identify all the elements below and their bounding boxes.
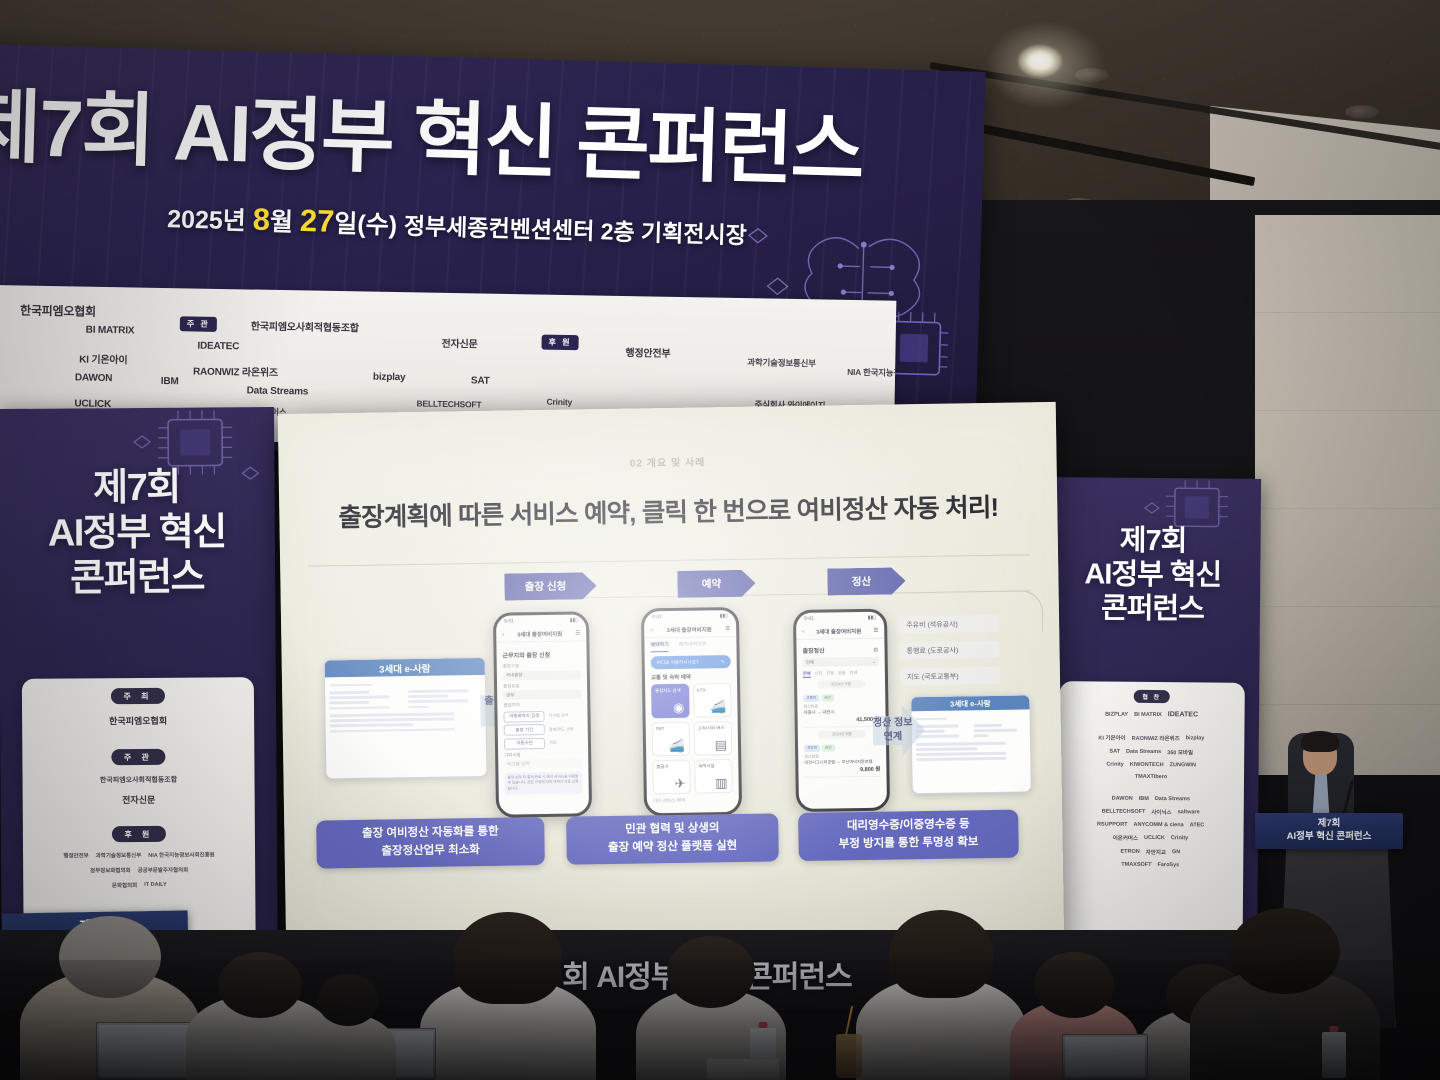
doc-line xyxy=(329,706,389,709)
right-standing-banner: 제7회 AI정부 혁신 콘퍼런스 협 찬 BIZPLAY BI MATRIX I… xyxy=(1042,477,1261,969)
settlement-chip-type: 숙박비 xyxy=(804,745,820,752)
sponsor-logo: bizplay xyxy=(373,372,406,384)
phone1-period-button[interactable]: 출장 기간 xyxy=(504,724,545,736)
esaram-system-left: 3세대 e-사람 xyxy=(324,657,488,780)
conference-photo-scene: 제7회 AI정부 혁신 콘퍼런스 2025년 8월 27일(수) 정부세종컨벤션… xyxy=(0,0,1440,1080)
circuit-chip-icon xyxy=(120,407,271,512)
right-tier3-logo: BELLTECHSOFT xyxy=(1102,809,1146,815)
right-tier2-logo: Data Streams xyxy=(1126,749,1161,755)
banner-date-day: 27 xyxy=(299,203,334,239)
phone1-app-title: 3세대 출장여비지원 xyxy=(508,630,571,639)
sponsor-logo: KI 기온아이 xyxy=(79,351,127,367)
banner-date-day-suffix: 일(수) xyxy=(334,210,404,240)
left-host-logo: 한국피엠오협회 xyxy=(109,714,167,727)
right-tier3-logo: 이온커머스 xyxy=(1113,834,1138,842)
phone2-time: 9:41 xyxy=(652,614,662,620)
bus-ticket-icon: ▤ xyxy=(715,738,727,751)
phone3-filter-value: 전체 xyxy=(806,659,814,665)
left-tag-organizer: 주 관 xyxy=(111,749,166,765)
wall-panel-seams xyxy=(1255,215,1440,775)
doc-line xyxy=(973,734,988,737)
settlement-chip-status: 승인 xyxy=(822,744,835,751)
train-icon: 🚄 xyxy=(669,739,685,752)
phone1-remarks-input[interactable]: 비고를 입력 xyxy=(504,758,582,768)
doc-line xyxy=(408,700,468,703)
hamburger-menu-icon[interactable]: ☰ xyxy=(575,630,580,636)
right-tier3-logo: ATEC xyxy=(1190,822,1205,828)
map-pin-icon: ◉ xyxy=(673,701,685,714)
search-icon[interactable]: ⌕ xyxy=(650,627,653,634)
phone1-form-title: 근무지외 출장 신청 xyxy=(503,649,581,659)
sponsor-logo: 과학기술정보통신부 xyxy=(747,356,816,369)
left-organizer-logo: 전자신문 xyxy=(122,793,155,806)
phone3-navbar: ‹ 3세대 출장여비지원 ☰ xyxy=(796,624,884,640)
settlement-amount: 9,800 원 xyxy=(804,765,880,774)
sponsor-logo: SAT xyxy=(471,375,490,386)
back-chevron-icon[interactable]: ‹ xyxy=(802,629,804,635)
left-supporter-logo: 문화협의회 xyxy=(112,881,137,889)
right-wall-panel xyxy=(1255,215,1440,775)
left-organizer-logo: 한국피엠오사회적협동조합 xyxy=(100,775,177,786)
left-tag-host: 주 최 xyxy=(110,688,165,704)
phone1-destination-button[interactable]: 여행목적지 검색 xyxy=(503,710,544,722)
right-tier2-logo: SAT xyxy=(1109,749,1120,755)
left-supporter-logo: NIA 한국지능정보사회진흥원 xyxy=(148,850,215,858)
phone1-label: 출장유형 xyxy=(503,682,581,689)
link-arrow-right-label: 정산 정보 연계 xyxy=(855,716,931,744)
booking-card-label: 항공기 xyxy=(656,764,668,769)
booking-card-flight[interactable]: 항공기 ✈ xyxy=(652,760,691,795)
partner-chip-map: 지도 (국토교통부) xyxy=(900,667,1000,686)
podium-sign-line2: AI정부 혁신 콘퍼런스 xyxy=(1287,831,1372,844)
settlement-row[interactable]: 숙박비 승인 정산완료 대전시그니처호텔 → 부산여비지원호텔 9,800 원 xyxy=(804,741,881,778)
left-supporter-logo: 행정안전부 xyxy=(63,851,88,859)
doc-line xyxy=(329,696,389,699)
phone-mockup-settlement[interactable]: 9:41 ▮▮▯ ‹ 3세대 출장여비지원 ☰ 출장정산 ⚙ 전체 ⌄ 전체 xyxy=(793,609,890,812)
ceiling-downlight-icon xyxy=(1345,105,1379,119)
phone2-navbar: ⌕ 3세대 출장여비지원 ☰ xyxy=(644,622,736,638)
phone3-body: 출장정산 ⚙ 전체 ⌄ 전체 신청 진행 완료 반려 2024년 9월 xyxy=(796,639,886,783)
booking-card-bus[interactable]: 고속/시외 버스 ▤ xyxy=(694,721,733,756)
doc-line xyxy=(408,689,468,692)
settlement-chips: 숙박비 승인 xyxy=(804,744,880,752)
right-tier3-logo: GN xyxy=(1172,849,1180,855)
right-tier2-logo: Crinity xyxy=(1106,762,1123,768)
sponsor-logo: 한국피엠오협회 xyxy=(20,301,96,319)
sponsor-logo: DAWON xyxy=(75,372,113,384)
right-tier2-logo: KIWONTECH xyxy=(1130,762,1164,768)
sponsor-logo: 행정안전부 xyxy=(625,344,670,360)
phone3-time: 9:41 xyxy=(804,616,814,622)
left-tag-supporter: 후 원 xyxy=(111,826,166,842)
right-banner-sponsor-card: 협 찬 BIZPLAY BI MATRIX IDEATEC KI 기온아이 RA… xyxy=(1057,681,1244,961)
phone1-period-row: 출장 기간 왕복/편도 선택 xyxy=(504,723,582,735)
tab-make-booking[interactable]: 예약하기 xyxy=(650,641,669,652)
arrow-right-line2: 연계 xyxy=(855,729,931,744)
podium-sign: 제7회 AI정부 혁신 콘퍼런스 xyxy=(1255,813,1403,849)
signal-icon: ▮▮▯ xyxy=(868,615,876,621)
train-icon: 🚄 xyxy=(710,700,726,713)
doc-line xyxy=(329,683,372,686)
booking-card-label: 숙박시설 xyxy=(698,763,714,768)
airplane-icon: ✈ xyxy=(675,777,686,790)
podium-sign-line1: 제7회 xyxy=(1318,818,1341,831)
phone3-tab-progress[interactable]: 진행 xyxy=(826,670,834,677)
partner-chip-toll: 통행료 (도로공사) xyxy=(899,641,999,660)
caption-box-partnership: 민관 협력 및 상생의 출장 예약 정산 플랫폼 실현 xyxy=(566,813,779,864)
speaker-hair xyxy=(1301,731,1339,752)
left-standing-banner: 제7회 AI정부 혁신 콘퍼런스 주 최 한국피엠오협회 주 관 한국피엠오사회… xyxy=(0,407,278,999)
phone1-transport-button[interactable]: 이동수단 xyxy=(504,737,545,749)
banner-date-month-suffix: 월 xyxy=(270,208,301,237)
esaram-system-right: 3세대 e-사람 xyxy=(910,694,1032,794)
caption-box-transparency: 대리영수증/이중영수증 등 부정 방지를 통한 투명성 확보 xyxy=(798,810,1019,861)
flow-connector-line xyxy=(581,590,1031,598)
phone1-body: 근무지외 출장 신청 출장구분 국내출장 출장유형 공무 출장지역 여행목적지 … xyxy=(496,641,588,800)
left-banner-title-line2: AI정부 혁신 xyxy=(0,510,275,557)
right-tier3-logo: Crinity xyxy=(1171,835,1188,841)
doc-line xyxy=(330,728,455,732)
phone3-app-title: 3세대 출장여비지원 xyxy=(808,627,869,636)
sponsor-logo: NIA 한국지능정보사회진흥원 xyxy=(847,366,896,380)
filter-icon[interactable]: ⚙ xyxy=(873,647,878,654)
caption3-line1: 대리영수증/이중영수증 등 xyxy=(847,817,970,837)
doc-line xyxy=(330,718,455,722)
phone1-period-note: 왕복/편도 선택 xyxy=(549,726,582,733)
sponsor-tag-organizer: 주 관 xyxy=(180,316,217,332)
right-tier3-logo: ANYCOMM & ciena xyxy=(1134,822,1184,828)
booking-card-srt[interactable]: SRT 🚄 xyxy=(652,722,691,757)
phone1-transport-note: 차량 xyxy=(549,739,582,746)
right-tier3-logo: Data Streams xyxy=(1155,796,1190,802)
booking-card-map[interactable]: 통합지도 검색 ◉ xyxy=(651,684,690,719)
signal-icon: ▮▮▯ xyxy=(720,613,728,619)
right-banner-title-line3: 콘퍼런스 xyxy=(1045,592,1260,628)
sponsor-logo: RAONWIZ 라온위즈 xyxy=(193,362,278,378)
slide-kicker: 02 개요 및 사례 xyxy=(630,453,706,469)
flow-step-booking: 예약 xyxy=(677,570,755,598)
right-tier2-logo: 360 모바일 xyxy=(1167,748,1193,756)
right-tier1-logo: BI MATRIX xyxy=(1134,711,1162,717)
left-supporter-logo: 과학기술정보통신부 xyxy=(96,851,142,859)
doc-line xyxy=(329,701,369,704)
right-tier2-logo: TMAXTibero xyxy=(1135,774,1167,780)
doc-columns xyxy=(916,721,1026,741)
doc-line xyxy=(973,724,1002,727)
phone-mockup-request[interactable]: 9:41 ▮▮▯ ‹ 3세대 출장여비지원 ☰ 근무지외 출장 신청 출장구분 … xyxy=(493,611,592,817)
phone2-footer-link[interactable]: 기타 서비스 예약 xyxy=(647,793,739,808)
right-tier3-logo: UCLICK xyxy=(1144,835,1165,841)
doc-line xyxy=(330,723,414,727)
arrow-right-line1: 정산 정보 xyxy=(855,716,931,731)
doc-line xyxy=(916,752,1006,756)
doc-line xyxy=(916,757,1006,761)
right-tier3-logo: TMAXSOFT xyxy=(1121,862,1151,868)
phone3-tab-requested[interactable]: 신청 xyxy=(815,671,823,678)
phone2-tabs: 예약하기 예약내역조회 xyxy=(644,637,736,652)
phone3-filter-select[interactable]: 전체 ⌄ xyxy=(803,657,879,667)
foreground-shadow xyxy=(0,960,1440,1080)
pencil-icon[interactable]: ✎ xyxy=(721,659,725,665)
phone1-destination-note: 지역별 검색 xyxy=(549,712,582,719)
phone2-service-grid: 통합지도 검색 ◉ KTX 🚄 SRT 🚄 고속/시외 버스 ▤ 항공기 xyxy=(645,683,739,794)
doc-line xyxy=(408,695,448,698)
hamburger-menu-icon[interactable]: ☰ xyxy=(725,626,730,632)
phone3-tab-rejected[interactable]: 반려 xyxy=(850,670,858,677)
right-tier2-logo: bizplay xyxy=(1186,735,1205,741)
right-tier2-logo: RAONWIZ 라온위즈 xyxy=(1132,734,1180,742)
doc-line xyxy=(973,729,1016,732)
banner-date-year: 2025년 xyxy=(167,205,253,235)
right-tier1-logo: BIZPLAY xyxy=(1105,711,1128,717)
flow-connector-corner xyxy=(1001,590,1044,633)
settlement-chip-type: 교통비 xyxy=(803,695,819,702)
phone1-time: 9:41 xyxy=(504,618,514,624)
caption1-line2: 출장정산업무 최소화 xyxy=(381,842,480,861)
phone2-app-title: 3세대 출장여비지원 xyxy=(657,625,721,634)
chevron-down-icon: ⌄ xyxy=(872,658,876,664)
phone2-search-placeholder: 어디로 이동하시나요? xyxy=(657,659,699,666)
phone1-note: 출장 신청 후 결재 완료 시 예약 서비스를 이용할 수 있습니다. 관련 규… xyxy=(504,771,582,794)
left-supporter-logo: 공공부문발주자협의회 xyxy=(138,866,189,874)
right-tier3-logo: saltware xyxy=(1178,809,1200,815)
phone1-label: 출장구분 xyxy=(503,662,581,669)
caption2-line2: 출장 예약 정산 플랫폼 실현 xyxy=(608,838,737,858)
settlement-chips: 교통비 승인 xyxy=(803,694,879,702)
sponsor-logo: Crinity xyxy=(546,397,572,407)
caption1-line1: 출장 여비정산 자동화를 통한 xyxy=(362,824,499,844)
sponsor-tag-supporter: 후 원 xyxy=(541,335,578,351)
phone1-destination-row: 여행목적지 검색 지역별 검색 xyxy=(503,710,581,722)
phone2-search-bar[interactable]: 어디로 이동하시나요? ✎ xyxy=(651,655,731,669)
slide-divider xyxy=(308,554,1030,566)
right-tier3-logo: 사이닉스 xyxy=(1151,808,1171,816)
right-tier1-logo: IDEATEC xyxy=(1168,711,1198,718)
sponsor-logo: BELLTECHSOFT xyxy=(416,398,481,409)
sponsor-logo: Data Streams xyxy=(247,385,309,397)
left-supporter-logo: 정부정보화협의회 xyxy=(90,866,131,874)
doc-line xyxy=(916,747,977,750)
doc-columns xyxy=(329,687,481,712)
right-tier3-logo: DAWON xyxy=(1112,796,1133,802)
right-tier3-logo: ETRON xyxy=(1120,849,1139,855)
booking-card-label: KTX xyxy=(697,687,706,692)
esaram-left-document xyxy=(325,675,486,739)
booking-card-label: SRT xyxy=(656,726,665,731)
sponsor-logo: 한국피엠오사회적협동조합 xyxy=(251,318,359,335)
phone1-field-trip-category[interactable]: 공무 xyxy=(503,689,581,699)
booking-card-ktx[interactable]: KTX 🚄 xyxy=(693,683,732,718)
sponsor-logo: 전자신문 xyxy=(441,335,477,351)
sponsor-logo: IBM xyxy=(161,376,179,387)
partner-chip-fuel: 주유비 (석유공사) xyxy=(899,615,999,634)
banner-date-month: 8 xyxy=(252,202,270,237)
sponsor-logo: IDEATEC xyxy=(197,341,239,353)
phone3-tab-all[interactable]: 전체 xyxy=(803,671,811,678)
right-tier3-logo: RSUPPORT xyxy=(1097,822,1128,828)
left-supporter-logo: IT DAILY xyxy=(144,882,166,888)
right-tier2-logo: ZUNGWIN xyxy=(1170,762,1196,768)
phone3-header: 출장정산 xyxy=(802,646,824,655)
settlement-chip-status: 승인 xyxy=(821,694,834,701)
right-tier3-logo: FaroSys xyxy=(1158,862,1180,868)
right-tier3-logo: IBM xyxy=(1139,796,1149,802)
booking-card-label: 통합지도 검색 xyxy=(655,688,681,693)
tab-booking-history[interactable]: 예약내역조회 xyxy=(679,640,707,651)
phone3-tab-done[interactable]: 완료 xyxy=(838,670,846,677)
phone1-label: 기타사항 xyxy=(504,751,582,758)
phone1-transport-row: 이동수단 차량 xyxy=(504,737,582,749)
spotlight-icon xyxy=(1018,45,1062,77)
phone1-field-trip-type[interactable]: 국내출장 xyxy=(503,670,581,680)
phone-mockup-booking[interactable]: 9:41 ▮▮▯ ⌕ 3세대 출장여비지원 ☰ 예약하기 예약내역조회 어디로 … xyxy=(641,607,742,817)
doc-line xyxy=(329,713,454,717)
sponsor-logo: BI MATRIX xyxy=(86,325,135,337)
projection-screen: 02 개요 및 사례 출장계획에 따른 서비스 예약, 클릭 한 번으로 여비정… xyxy=(278,402,1064,959)
doc-line xyxy=(329,691,369,694)
banner-venue: 정부세종컨벤션센터 2층 기획전시장 xyxy=(404,213,748,249)
left-banner-title-line3: 콘퍼런스 xyxy=(0,555,275,602)
right-tier2-logo: KI 기온아이 xyxy=(1098,734,1125,742)
phone3-date-group: 2024년 9월 xyxy=(817,680,865,689)
flow-step-request: 출장 신청 xyxy=(504,572,596,600)
phone1-label: 출장지역 xyxy=(503,701,581,708)
caption3-line2: 부정 방지를 통한 투명성 확보 xyxy=(839,834,979,854)
signal-icon: ▮▮▯ xyxy=(570,617,578,623)
phone1-navbar: ‹ 3세대 출장여비지원 ☰ xyxy=(496,626,586,642)
back-chevron-icon[interactable]: ‹ xyxy=(502,632,504,638)
hamburger-menu-icon[interactable]: ☰ xyxy=(873,628,878,634)
doc-line xyxy=(408,705,429,708)
hotel-icon: ▥ xyxy=(715,776,727,789)
circuit-chip-icon xyxy=(1134,477,1255,565)
slide-title: 출장계획에 따른 서비스 예약, 클릭 한 번으로 여비정산 자동 처리! xyxy=(338,487,998,534)
caption-box-automation: 출장 여비정산 자동화를 통한 출장정산업무 최소화 xyxy=(316,817,545,869)
booking-card-label: 고속/시외 버스 xyxy=(698,725,725,730)
right-tier3-logo: 자안지교 xyxy=(1146,848,1166,856)
right-tag-partner: 협 찬 xyxy=(1133,690,1170,703)
caption2-line1: 민관 협력 및 상생의 xyxy=(625,820,720,839)
booking-card-hotel[interactable]: 숙박시설 ▥ xyxy=(694,759,733,794)
flow-step-settlement: 정산 xyxy=(827,567,905,595)
